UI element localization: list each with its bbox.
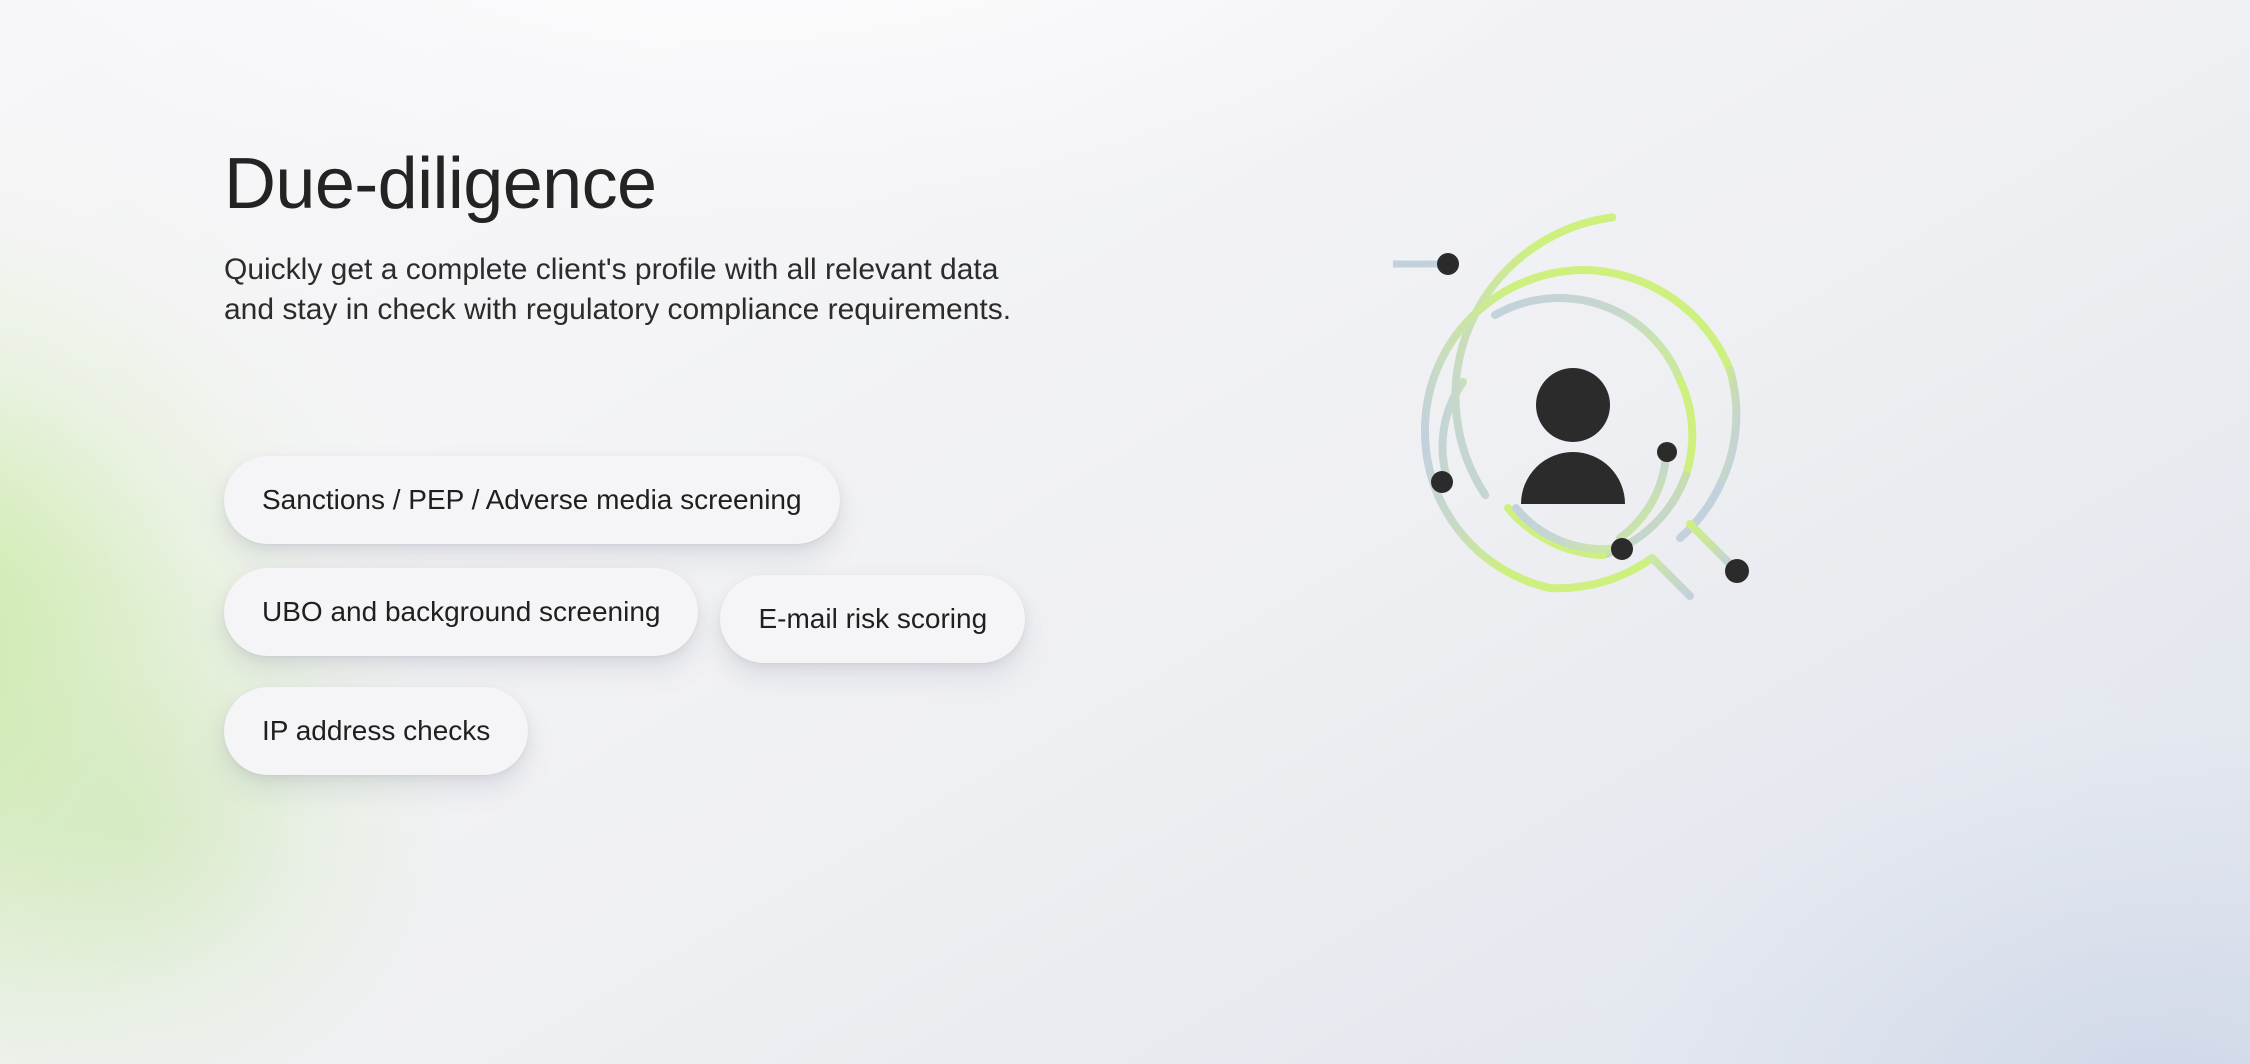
page-subtitle: Quickly get a complete client's profile … bbox=[224, 250, 1014, 330]
magnifier-handle bbox=[1652, 524, 1730, 596]
feature-pill-row: Sanctions / PEP / Adverse media screenin… bbox=[224, 456, 1025, 544]
due-diligence-illustration bbox=[1390, 270, 1950, 790]
node-dot-left bbox=[1431, 471, 1453, 493]
feature-pill-sanctions[interactable]: Sanctions / PEP / Adverse media screenin… bbox=[224, 456, 840, 544]
node-dot-bottom-right bbox=[1725, 559, 1749, 583]
person-icon bbox=[1521, 368, 1625, 504]
feature-pill-email-risk[interactable]: E-mail risk scoring bbox=[720, 575, 1025, 663]
feature-pill-row: UBO and background screening E-mail risk… bbox=[224, 568, 1025, 663]
feature-pill-ip-address[interactable]: IP address checks bbox=[224, 687, 528, 775]
magnifier-inner-arc-right bbox=[1620, 456, 1666, 538]
node-dot-center-right bbox=[1657, 442, 1677, 462]
node-dot-bottom-center bbox=[1611, 538, 1633, 560]
page-title: Due-diligence bbox=[224, 148, 1084, 220]
magnifier-outer-ring bbox=[1455, 217, 1612, 495]
feature-pill-list: Sanctions / PEP / Adverse media screenin… bbox=[224, 456, 1025, 799]
node-dot-top-left bbox=[1437, 253, 1459, 275]
page-root: Due-diligence Quickly get a complete cli… bbox=[0, 0, 2250, 1064]
feature-pill-row: IP address checks bbox=[224, 687, 1025, 775]
feature-pill-ubo[interactable]: UBO and background screening bbox=[224, 568, 698, 656]
copy-block: Due-diligence Quickly get a complete cli… bbox=[224, 148, 1084, 330]
